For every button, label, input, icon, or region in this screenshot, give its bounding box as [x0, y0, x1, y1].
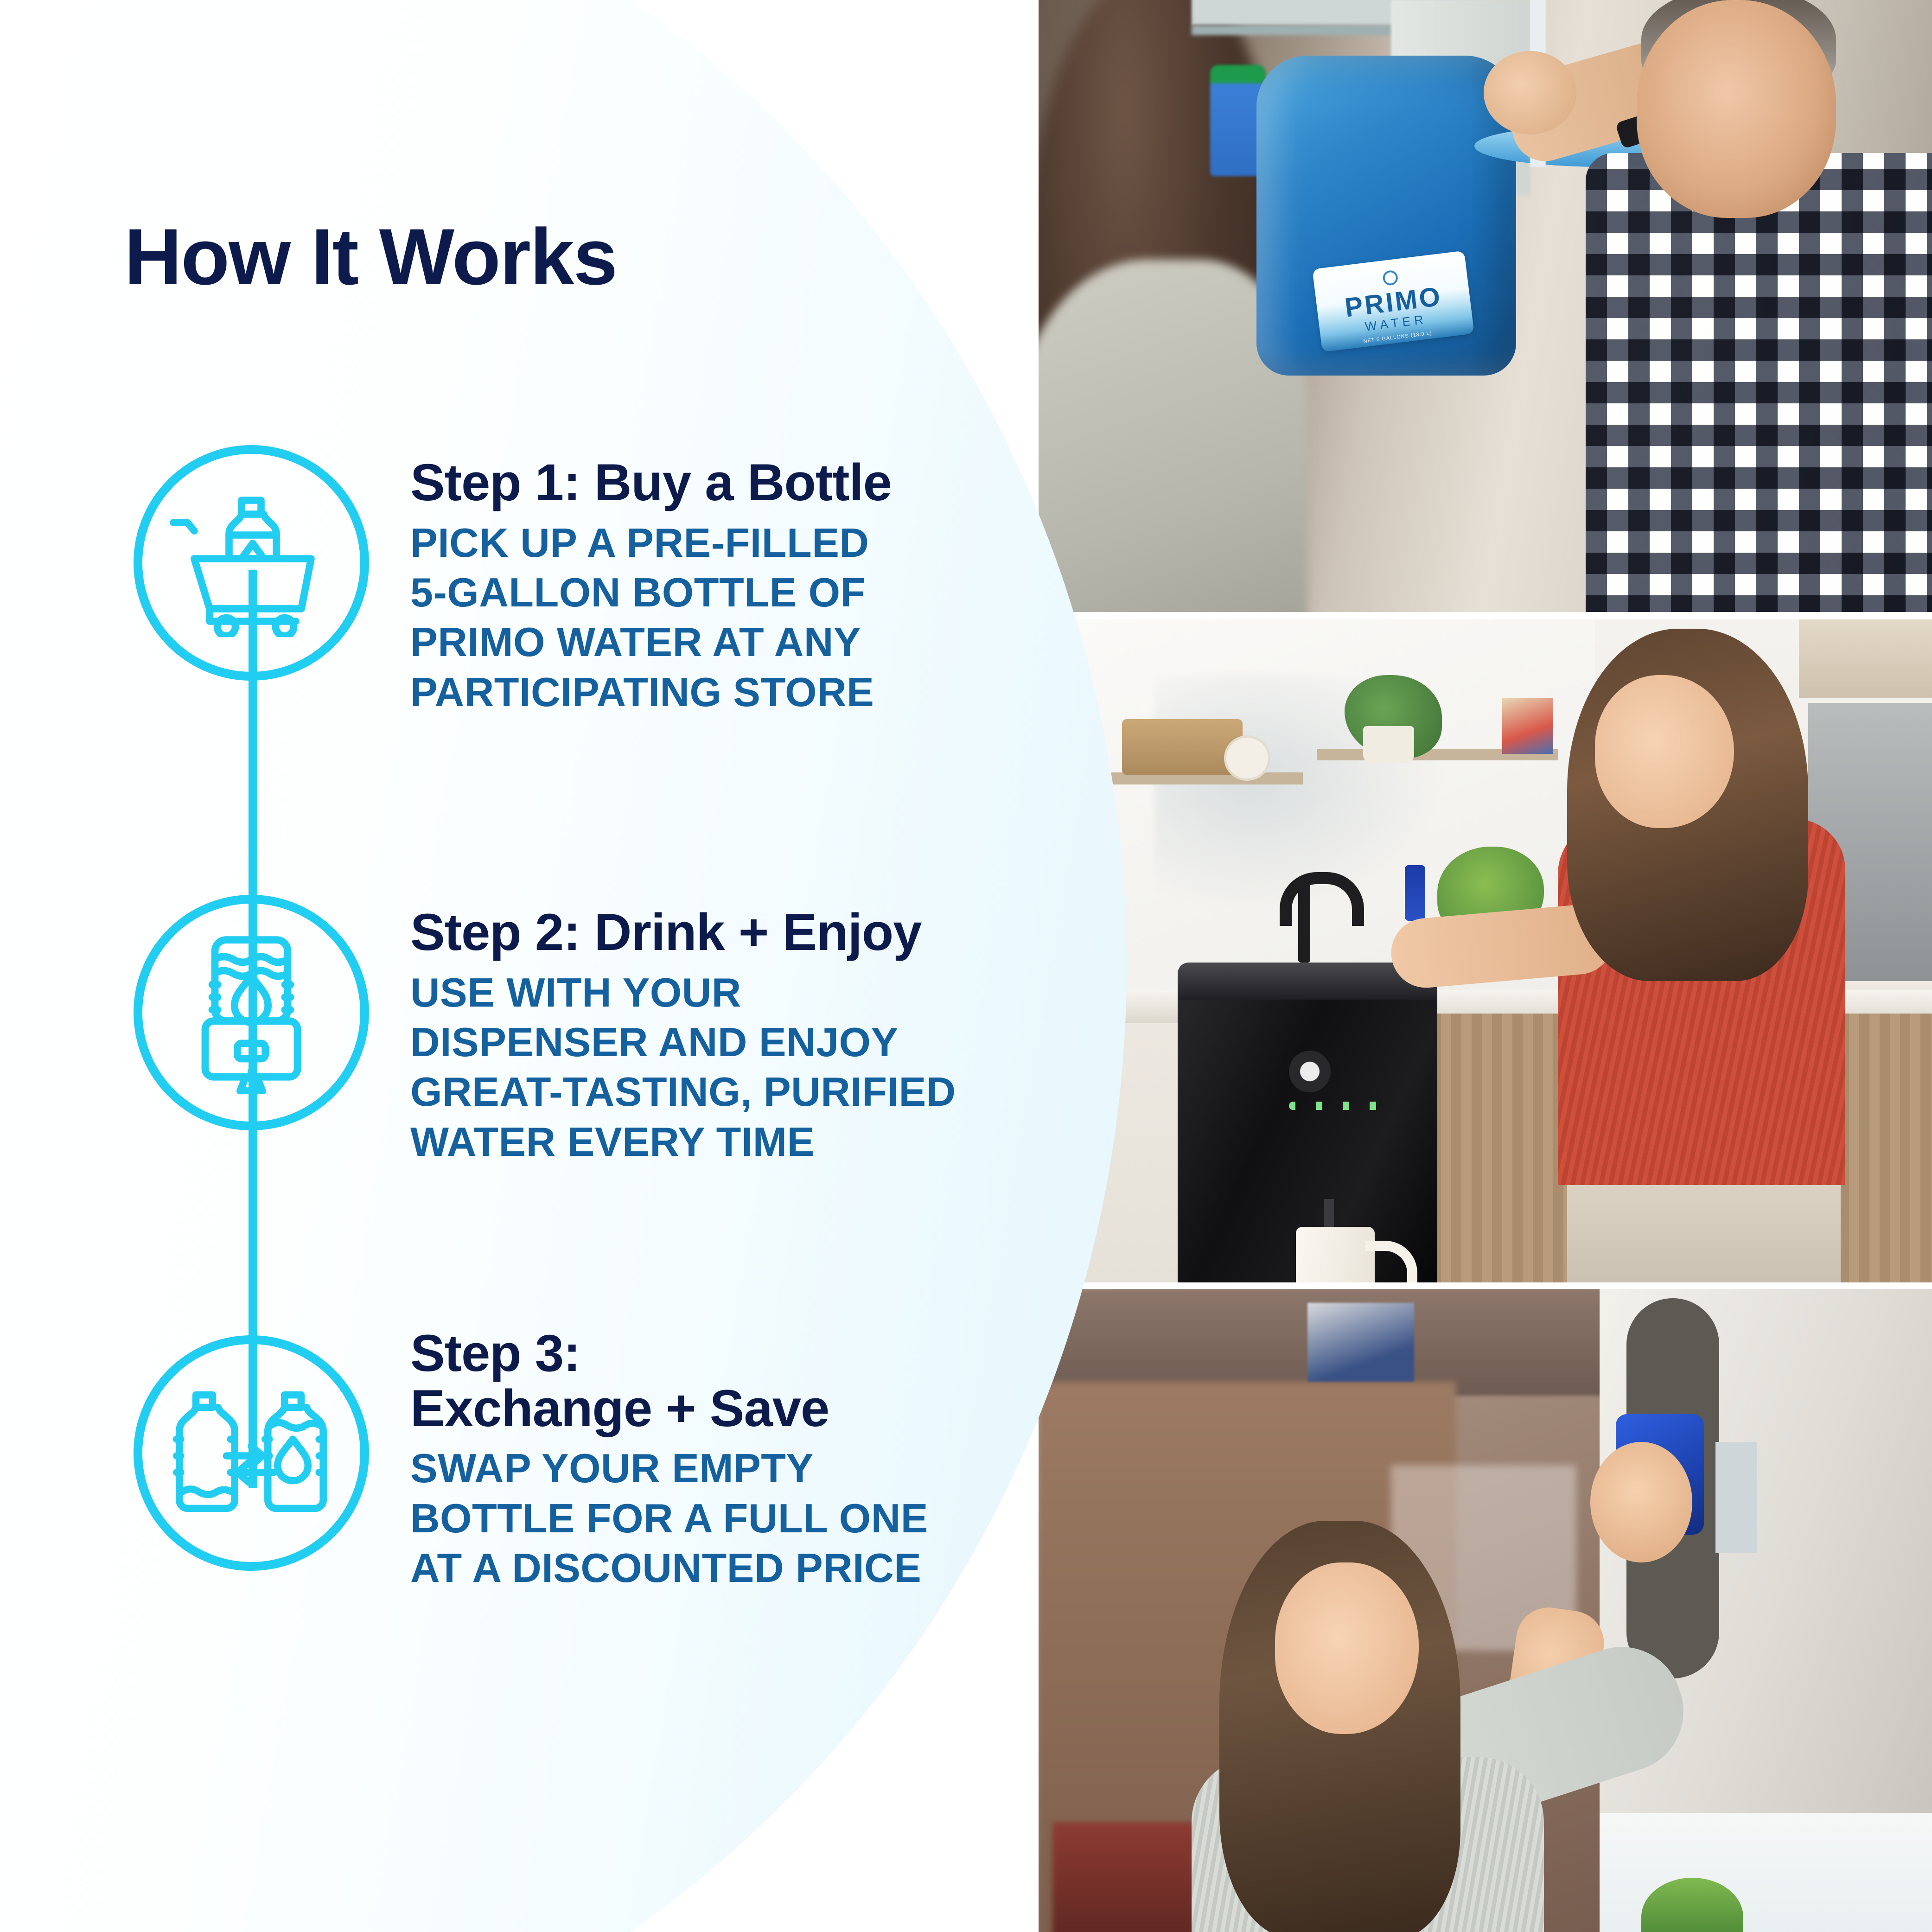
photo3-store-sign [1307, 1303, 1414, 1382]
photo2-blue-bottle [1405, 865, 1425, 921]
photo3-kiosk-panel [1715, 1442, 1757, 1553]
steps-list: Step 1: Buy a Bottle PICK UP A PRE-FILLE… [0, 0, 1066, 1932]
step-2-text: Step 2: Drink + Enjoy USE WITH YOUR DISP… [410, 905, 1059, 1167]
photo-column: PRIMO WATER NET 5 GALLONS (18.9 L) [1039, 0, 1932, 1932]
photo2-plant-pot-1 [1363, 726, 1414, 763]
photo-exchange-and-save [1039, 1289, 1932, 1932]
photo3-hand-upper [1590, 1442, 1692, 1562]
water-dispenser-icon [177, 931, 325, 1094]
step-2-body: USE WITH YOUR DISPENSER AND ENJOY GREAT-… [410, 968, 1059, 1167]
shopping-cart-with-bottle-icon [168, 489, 335, 637]
step-2-title: Step 2: Drink + Enjoy [410, 905, 1059, 960]
step-3-text: Step 3: Exchange + Save SWAP YOUR EMPTY … [410, 1326, 1059, 1593]
step-1-body: PICK UP A PRE-FILLED 5-GALLON BOTTLE OF … [410, 518, 1059, 717]
photo2-face [1595, 675, 1734, 828]
photo2-dispenser-primo-logo-icon [1289, 1051, 1331, 1092]
photo2-clock [1224, 735, 1270, 781]
bottle-exchange-icon [166, 1384, 337, 1523]
photo1-face [1637, 0, 1836, 218]
photo2-dispenser-indicator-lights [1289, 1102, 1391, 1110]
photo1-hand [1484, 51, 1576, 134]
step-1-text: Step 1: Buy a Bottle PICK UP A PRE-FILLE… [410, 455, 1059, 717]
step-1-title: Step 1: Buy a Bottle [410, 455, 1059, 510]
photo2-tumbler [1296, 1227, 1375, 1282]
photo2-cookbook [1502, 698, 1553, 754]
photo1-plaid-shirt [1586, 153, 1932, 612]
step-3-icon-circle [134, 1335, 369, 1571]
step-2-icon-circle [134, 895, 369, 1130]
photo-buy-a-bottle: PRIMO WATER NET 5 GALLONS (18.9 L) [1039, 0, 1932, 612]
photo-drink-and-enjoy [1039, 619, 1932, 1282]
content-area: How It Works [0, 0, 1066, 1932]
infographic-canvas: PRIMO WATER NET 5 GALLONS (18.9 L) [0, 0, 1932, 1932]
photo2-upper-cabinet [1799, 619, 1932, 698]
step-1-icon-circle [134, 445, 369, 681]
photo2-skirt [1567, 1171, 1841, 1282]
photo2-cutting-board [1122, 719, 1243, 775]
step-3-body: SWAP YOUR EMPTY BOTTLE FOR A FULL ONE AT… [410, 1443, 1059, 1593]
photo2-faucet-stem [1298, 879, 1310, 963]
photo3-face [1275, 1562, 1419, 1734]
step-3-title: Step 3: Exchange + Save [410, 1326, 1059, 1436]
